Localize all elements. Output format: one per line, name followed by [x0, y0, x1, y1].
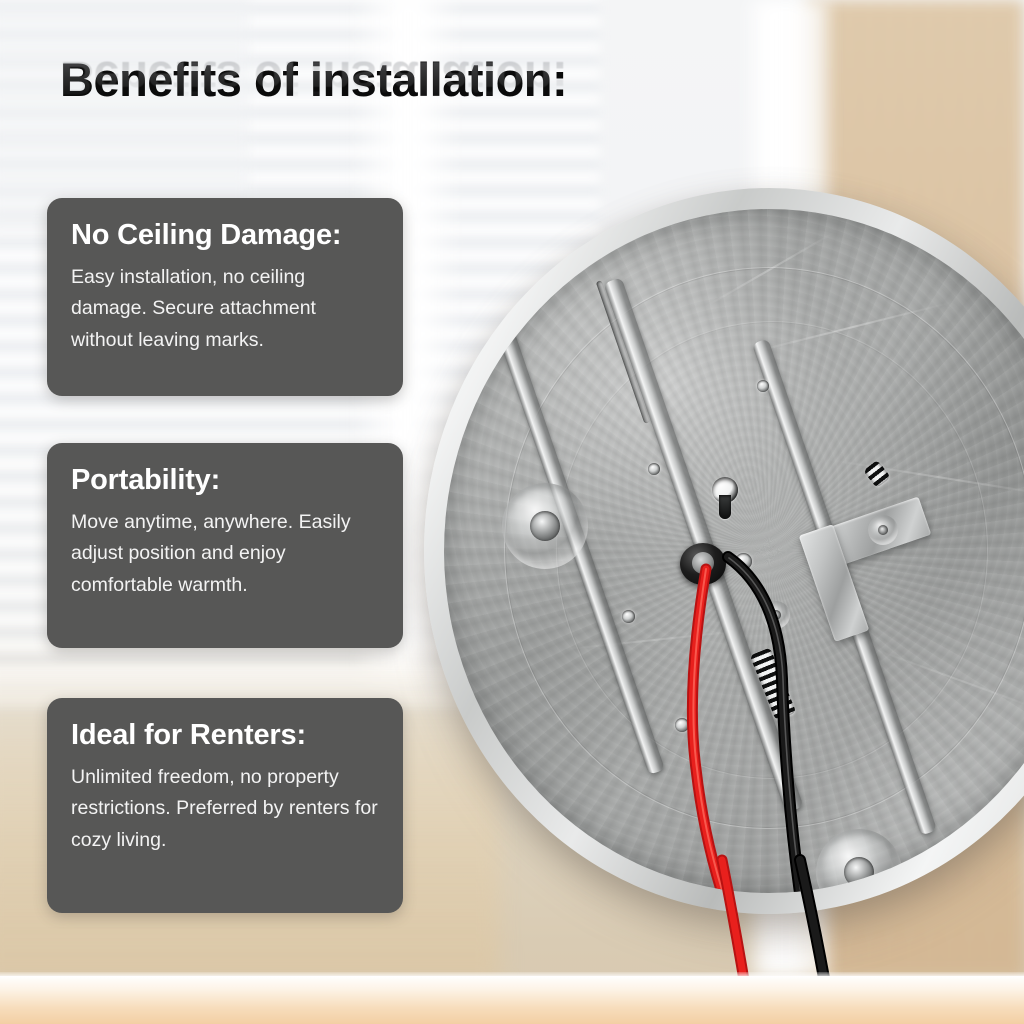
benefit-card-title: Portability: [71, 465, 379, 497]
footer-gradient-bar [0, 976, 1024, 1024]
benefit-card-portability[interactable]: Portability: Move anytime, anywhere. Eas… [47, 443, 403, 648]
page-title: Benefits of installation: [60, 56, 567, 103]
benefit-card-no-ceiling-damage[interactable]: No Ceiling Damage: Easy installation, no… [47, 198, 403, 396]
wire-bundle [444, 209, 1024, 893]
benefit-card-body: Easy installation, no ceiling damage. Se… [71, 262, 379, 357]
benefit-card-body: Unlimited freedom, no property restricti… [71, 762, 379, 857]
disc-brushed-face [444, 209, 1024, 893]
product-photo-metal-disc [424, 188, 1024, 948]
benefit-card-ideal-for-renters[interactable]: Ideal for Renters: Unlimited freedom, no… [47, 698, 403, 913]
benefit-card-title: Ideal for Renters: [71, 720, 379, 752]
headline-block: Benefits of installation: Benefits of in… [60, 56, 760, 166]
benefit-card-title: No Ceiling Damage: [71, 220, 379, 252]
infographic-canvas: Benefits of installation: Benefits of in… [0, 0, 1024, 1024]
benefit-card-body: Move anytime, anywhere. Easily adjust po… [71, 507, 379, 602]
